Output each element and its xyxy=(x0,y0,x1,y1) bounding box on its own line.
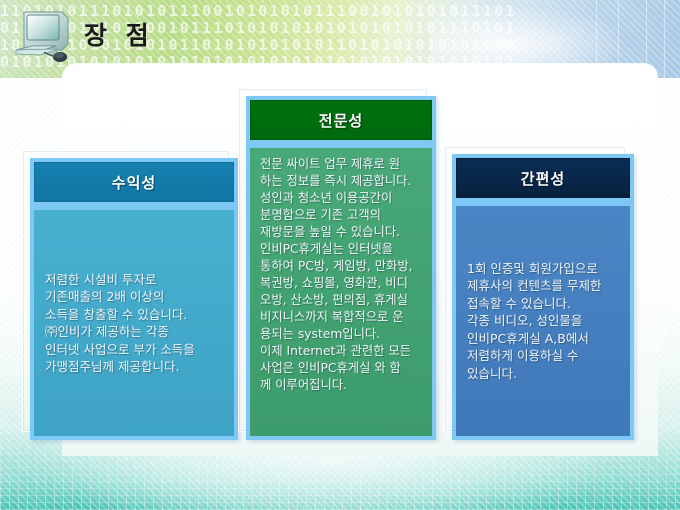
slide-root: 1101010111010101110010101010111001010101… xyxy=(0,0,680,510)
advantage-card-expertise: 전문성 전문 싸이트 업무 제휴로 원 하는 정보를 즉시 제공합니다. 성인과… xyxy=(246,96,436,440)
card-body-expertise: 전문 싸이트 업무 제휴로 원 하는 정보를 즉시 제공합니다. 성인과 청소년… xyxy=(250,148,432,436)
card-frame: 간편성 1회 인증및 회원가입으로 제휴사의 컨텐츠를 무제한 접속할 수 있습… xyxy=(452,154,634,440)
card-body-text: 1회 인증및 회원가입으로 제휴사의 컨텐츠를 무제한 접속할 수 있습니다. … xyxy=(467,260,619,383)
page-title: 장 점 xyxy=(84,16,154,52)
header-stripe xyxy=(664,0,665,78)
desktop-computer-icon xyxy=(12,6,78,72)
card-header-profitability: 수익성 xyxy=(34,162,234,202)
card-body-convenience: 1회 인증및 회원가입으로 제휴사의 컨텐츠를 무제한 접속할 수 있습니다. … xyxy=(456,206,630,436)
card-body-text: 전문 싸이트 업무 제휴로 원 하는 정보를 즉시 제공합니다. 성인과 청소년… xyxy=(260,156,422,394)
left-binary-column: 1101 0011 xyxy=(1,84,32,107)
card-body-profitability: 저렴한 시설비 투자로 기존매출의 2배 이상의 소득을 창출할 수 있습니다.… xyxy=(34,210,234,436)
card-header-convenience: 간편성 xyxy=(456,158,630,198)
advantage-card-convenience: 간편성 1회 인증및 회원가입으로 제휴사의 컨텐츠를 무제한 접속할 수 있습… xyxy=(452,154,634,440)
advantage-card-profitability: 수익성 저렴한 시설비 투자로 기존매출의 2배 이상의 소득을 창출할 수 있… xyxy=(30,158,238,440)
card-header-expertise: 전문성 xyxy=(250,100,432,140)
card-frame: 전문성 전문 싸이트 업무 제휴로 원 하는 정보를 즉시 제공합니다. 성인과… xyxy=(246,96,436,440)
card-frame: 수익성 저렴한 시설비 투자로 기존매출의 2배 이상의 소득을 창출할 수 있… xyxy=(30,158,238,440)
card-body-text: 저렴한 시설비 투자로 기존매출의 2배 이상의 소득을 창출할 수 있습니다.… xyxy=(45,271,223,376)
